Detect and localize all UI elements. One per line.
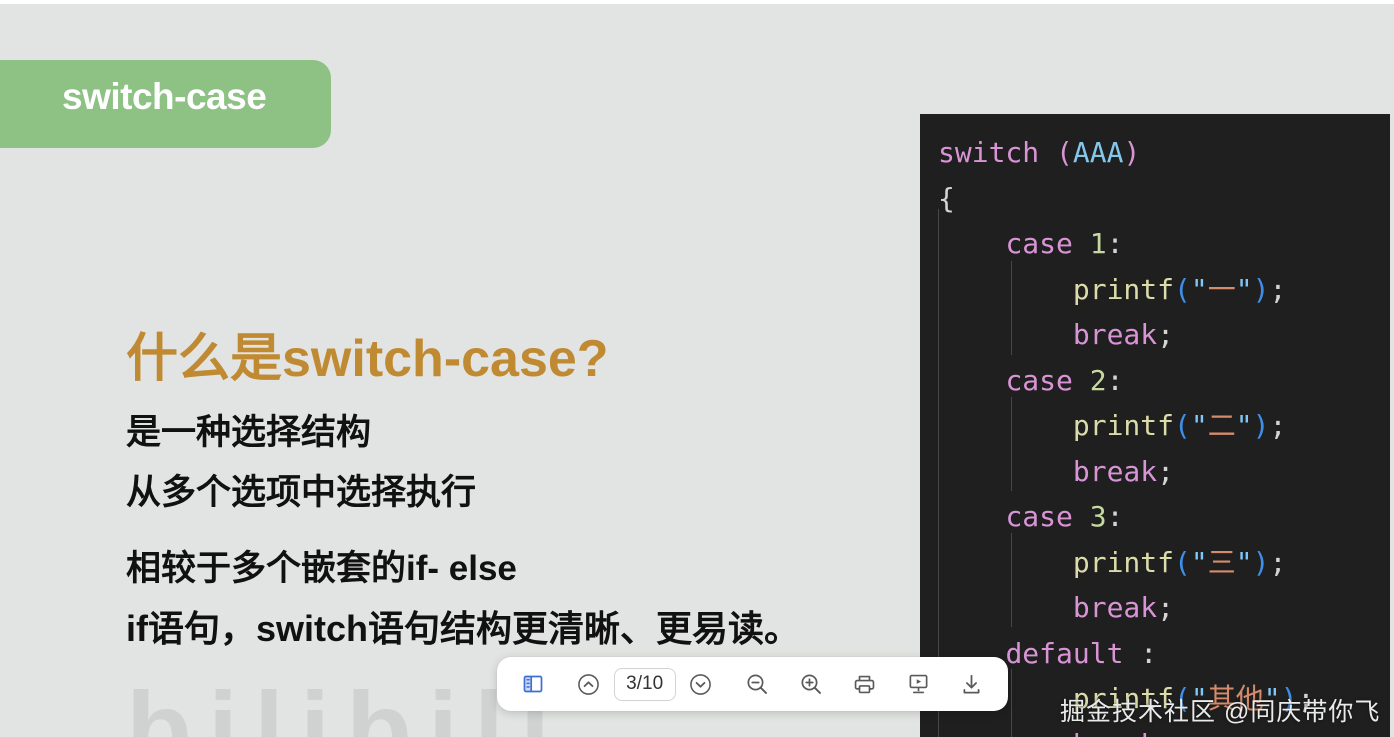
- chevron-up-circle-icon: [576, 672, 601, 697]
- code-block: switch (AAA) { case 1: printf("一"); brea…: [938, 130, 1314, 737]
- code-token: [1073, 500, 1090, 533]
- indent-guide: [1011, 533, 1012, 627]
- code-token: break: [1073, 455, 1157, 488]
- indent-guide: [1011, 669, 1012, 737]
- code-token: (: [1174, 546, 1191, 579]
- code-token: :: [1107, 364, 1124, 397]
- code-token: ): [1253, 409, 1270, 442]
- code-token: [938, 455, 1073, 488]
- previous-page-button[interactable]: [569, 664, 609, 704]
- code-token: 一: [1208, 273, 1236, 306]
- page-number-input[interactable]: 3/10: [614, 668, 676, 701]
- code-token: ;: [1269, 409, 1286, 442]
- code-token: ;: [1269, 546, 1286, 579]
- presentation-mode-button[interactable]: [898, 664, 938, 704]
- next-page-button[interactable]: [681, 664, 721, 704]
- code-token: :: [1123, 637, 1157, 670]
- code-token: ": [1191, 409, 1208, 442]
- indent-guide: [1011, 397, 1012, 491]
- code-token: (: [1174, 273, 1191, 306]
- code-token: printf: [1073, 273, 1174, 306]
- slide-body-line: 从多个选项中选择执行: [126, 464, 476, 515]
- slide-body-line: 相较于多个嵌套的if- else: [126, 540, 517, 591]
- download-tray-icon: [959, 672, 984, 697]
- pdf-viewer: bilibili switch-case 什么是switch-case? 是一种…: [0, 0, 1394, 737]
- printer-icon: [852, 672, 877, 697]
- code-token: default: [1005, 637, 1123, 670]
- code-token: [938, 318, 1073, 351]
- code-token: ;: [1157, 728, 1174, 737]
- code-token: 2: [1090, 364, 1107, 397]
- code-token: ": [1236, 546, 1253, 579]
- code-token: ": [1236, 409, 1253, 442]
- author-watermark: 掘金技术社区 @同庆带你飞: [1060, 692, 1380, 728]
- code-token: :: [1107, 227, 1124, 260]
- code-token: case: [1005, 500, 1072, 533]
- code-token: [938, 500, 1005, 533]
- code-token: ": [1191, 273, 1208, 306]
- code-token: [938, 546, 1073, 579]
- code-token: case: [1005, 364, 1072, 397]
- indent-guide: [1011, 261, 1012, 355]
- sidebar-panel-icon: [521, 672, 545, 696]
- code-token: [1073, 227, 1090, 260]
- code-token: printf: [1073, 546, 1174, 579]
- presentation-screen-icon: [906, 672, 931, 697]
- pdf-page: bilibili switch-case 什么是switch-case? 是一种…: [0, 4, 1394, 737]
- code-token: [938, 364, 1005, 397]
- code-token: :: [1107, 500, 1124, 533]
- code-token: {: [938, 182, 955, 215]
- code-token: break: [1073, 591, 1157, 624]
- slide-tag-label: switch-case: [62, 76, 266, 118]
- code-token: (: [1056, 136, 1073, 169]
- code-token: [1073, 364, 1090, 397]
- code-token: [938, 227, 1005, 260]
- chevron-down-circle-icon: [688, 672, 713, 697]
- code-token: 二: [1208, 409, 1236, 442]
- code-token: [938, 728, 1073, 737]
- code-token: 1: [1090, 227, 1107, 260]
- sidebar-toggle-button[interactable]: [513, 664, 553, 704]
- code-token: [938, 273, 1073, 306]
- pdf-toolbar: 3/10: [497, 657, 1008, 711]
- code-token: ): [1253, 273, 1270, 306]
- zoom-in-button[interactable]: [791, 664, 831, 704]
- code-token: break: [1073, 728, 1157, 737]
- magnifier-plus-icon: [798, 671, 824, 697]
- code-token: switch: [938, 136, 1039, 169]
- zoom-out-button[interactable]: [737, 664, 777, 704]
- slide-body-line: if语句，switch语句结构更清晰、更易读。: [126, 600, 800, 652]
- slide-body-line: 是一种选择结构: [126, 404, 371, 455]
- code-token: ;: [1157, 591, 1174, 624]
- code-token: ;: [1269, 273, 1286, 306]
- download-button[interactable]: [952, 664, 992, 704]
- code-snippet-panel: switch (AAA) { case 1: printf("一"); brea…: [920, 114, 1390, 737]
- code-token: ): [1123, 136, 1140, 169]
- code-token: break: [1073, 318, 1157, 351]
- code-token: 三: [1208, 546, 1236, 579]
- code-token: [938, 409, 1073, 442]
- code-token: 3: [1090, 500, 1107, 533]
- code-token: [938, 591, 1073, 624]
- code-token: ;: [1157, 455, 1174, 488]
- code-token: ): [1253, 546, 1270, 579]
- code-token: AAA: [1073, 136, 1124, 169]
- code-token: ;: [1157, 318, 1174, 351]
- code-token: [1039, 136, 1056, 169]
- code-token: ": [1236, 273, 1253, 306]
- magnifier-minus-icon: [744, 671, 770, 697]
- code-token: printf: [1073, 409, 1174, 442]
- code-token: case: [1005, 227, 1072, 260]
- code-token: ": [1191, 546, 1208, 579]
- code-token: (: [1174, 409, 1191, 442]
- print-button[interactable]: [845, 664, 885, 704]
- page-title: 什么是switch-case?: [126, 316, 609, 391]
